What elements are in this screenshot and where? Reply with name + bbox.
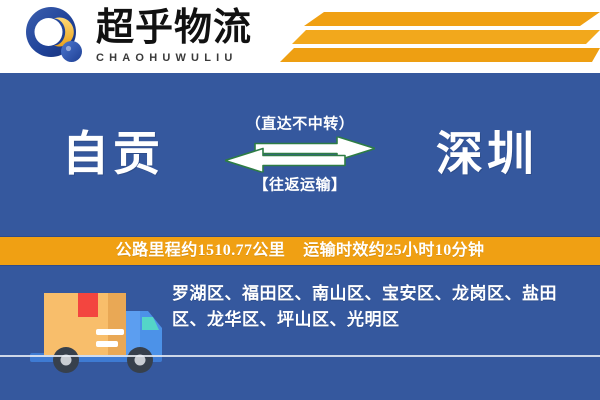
logistics-route-banner: 超乎物流 CHAOHUWULIU 自贡 （直达不中转） 【往返运输】 [0, 0, 600, 400]
destination-city: 深圳 [436, 129, 538, 181]
route-note-direct: （直达不中转） [246, 115, 355, 133]
origin-city: 自贡 [62, 129, 164, 181]
road-divider [0, 355, 600, 357]
speed-stripes-icon [280, 8, 600, 66]
brand-name-cn: 超乎物流 [96, 8, 252, 48]
brand-logo: 超乎物流 CHAOHUWULIU [24, 6, 252, 66]
districts-panel: 罗湖区、福田区、南山区、宝安区、龙岗区、盐田区、龙华区、坪山区、光明区 [0, 267, 600, 400]
duration-text: 运输时效约25小时10分钟 [303, 241, 484, 261]
route-info-bar: 公路里程约1510.77公里 运输时效约25小时10分钟 [0, 236, 600, 266]
distance-text: 公路里程约1510.77公里 [116, 241, 286, 261]
route-middle-block: （直达不中转） 【往返运输】 [205, 115, 395, 194]
brand-name-en: CHAOHUWULIU [96, 51, 252, 65]
route-panel: 自贡 （直达不中转） 【往返运输】 深圳 [0, 73, 600, 236]
delivery-truck-icon [22, 281, 168, 381]
banner-header: 超乎物流 CHAOHUWULIU [0, 0, 600, 73]
district-list: 罗湖区、福田区、南山区、宝安区、龙岗区、盐田区、龙华区、坪山区、光明区 [172, 281, 584, 333]
bidirectional-arrow-icon [225, 136, 375, 172]
route-note-roundtrip: 【往返运输】 [253, 176, 346, 194]
brand-text-block: 超乎物流 CHAOHUWULIU [96, 8, 252, 65]
circle-crescent-logo-icon [24, 6, 86, 66]
